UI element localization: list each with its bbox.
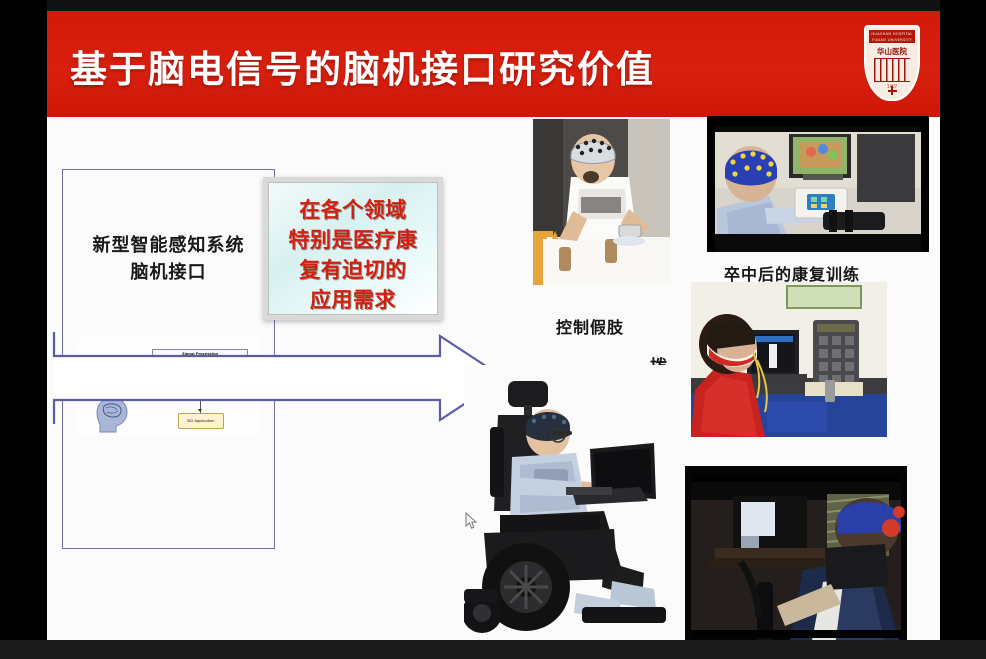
- logo-chinese-name: 华山医院: [866, 46, 918, 57]
- slide-title-banner: 基于脑电信号的脑机接口研究价值 HUASHAN HOSPITAL FUDAN U…: [47, 11, 940, 117]
- screen: 基于脑电信号的脑机接口研究价值 HUASHAN HOSPITAL FUDAN U…: [0, 0, 986, 659]
- logo-building-motif: [874, 58, 910, 82]
- mouse-pointer-icon: [465, 512, 478, 530]
- system-box-title-line2: 脑机接口: [63, 259, 274, 286]
- caption-prosthesis-control: 控制假肢: [556, 314, 624, 338]
- system-box-title-line1: 新型智能感知系统: [63, 232, 274, 259]
- huashan-hospital-crest-icon: HUASHAN HOSPITAL FUDAN UNIVERSITY 华山医院 1…: [864, 25, 920, 101]
- letterbox-top: [0, 0, 986, 11]
- key-message-line3: 复有迫切的: [268, 255, 438, 285]
- key-message-line1: 在各个领域: [268, 195, 438, 225]
- key-message-line2: 特别是医疗康: [268, 225, 438, 255]
- photo-prosthesis-control: [533, 119, 670, 285]
- key-message-text: 在各个领域 特别是医疗康 复有迫切的 应用需求: [268, 195, 438, 315]
- flow-arrow-icon: [52, 330, 522, 426]
- logo-cross-icon: [888, 86, 897, 95]
- photo-assistive-device-use: [685, 466, 907, 640]
- page-title: 基于脑电信号的脑机接口研究价值: [70, 39, 655, 93]
- photo-wheelchair-control: [464, 365, 679, 640]
- letterbox-left: [0, 0, 47, 659]
- key-message-line4: 应用需求: [268, 285, 438, 315]
- key-message-callout: 在各个领域 特别是医疗康 复有迫切的 应用需求: [263, 177, 443, 320]
- photo-stroke-rehabilitation: [707, 116, 929, 252]
- logo-band-line2: FUDAN UNIVERSITY: [869, 37, 915, 43]
- photo-phone-dialing: [691, 282, 887, 437]
- presentation-slide: 基于脑电信号的脑机接口研究价值 HUASHAN HOSPITAL FUDAN U…: [47, 11, 940, 640]
- letterbox-right: [940, 0, 986, 659]
- system-box-title: 新型智能感知系统 脑机接口: [63, 232, 274, 286]
- letterbox-bottom: [0, 640, 986, 659]
